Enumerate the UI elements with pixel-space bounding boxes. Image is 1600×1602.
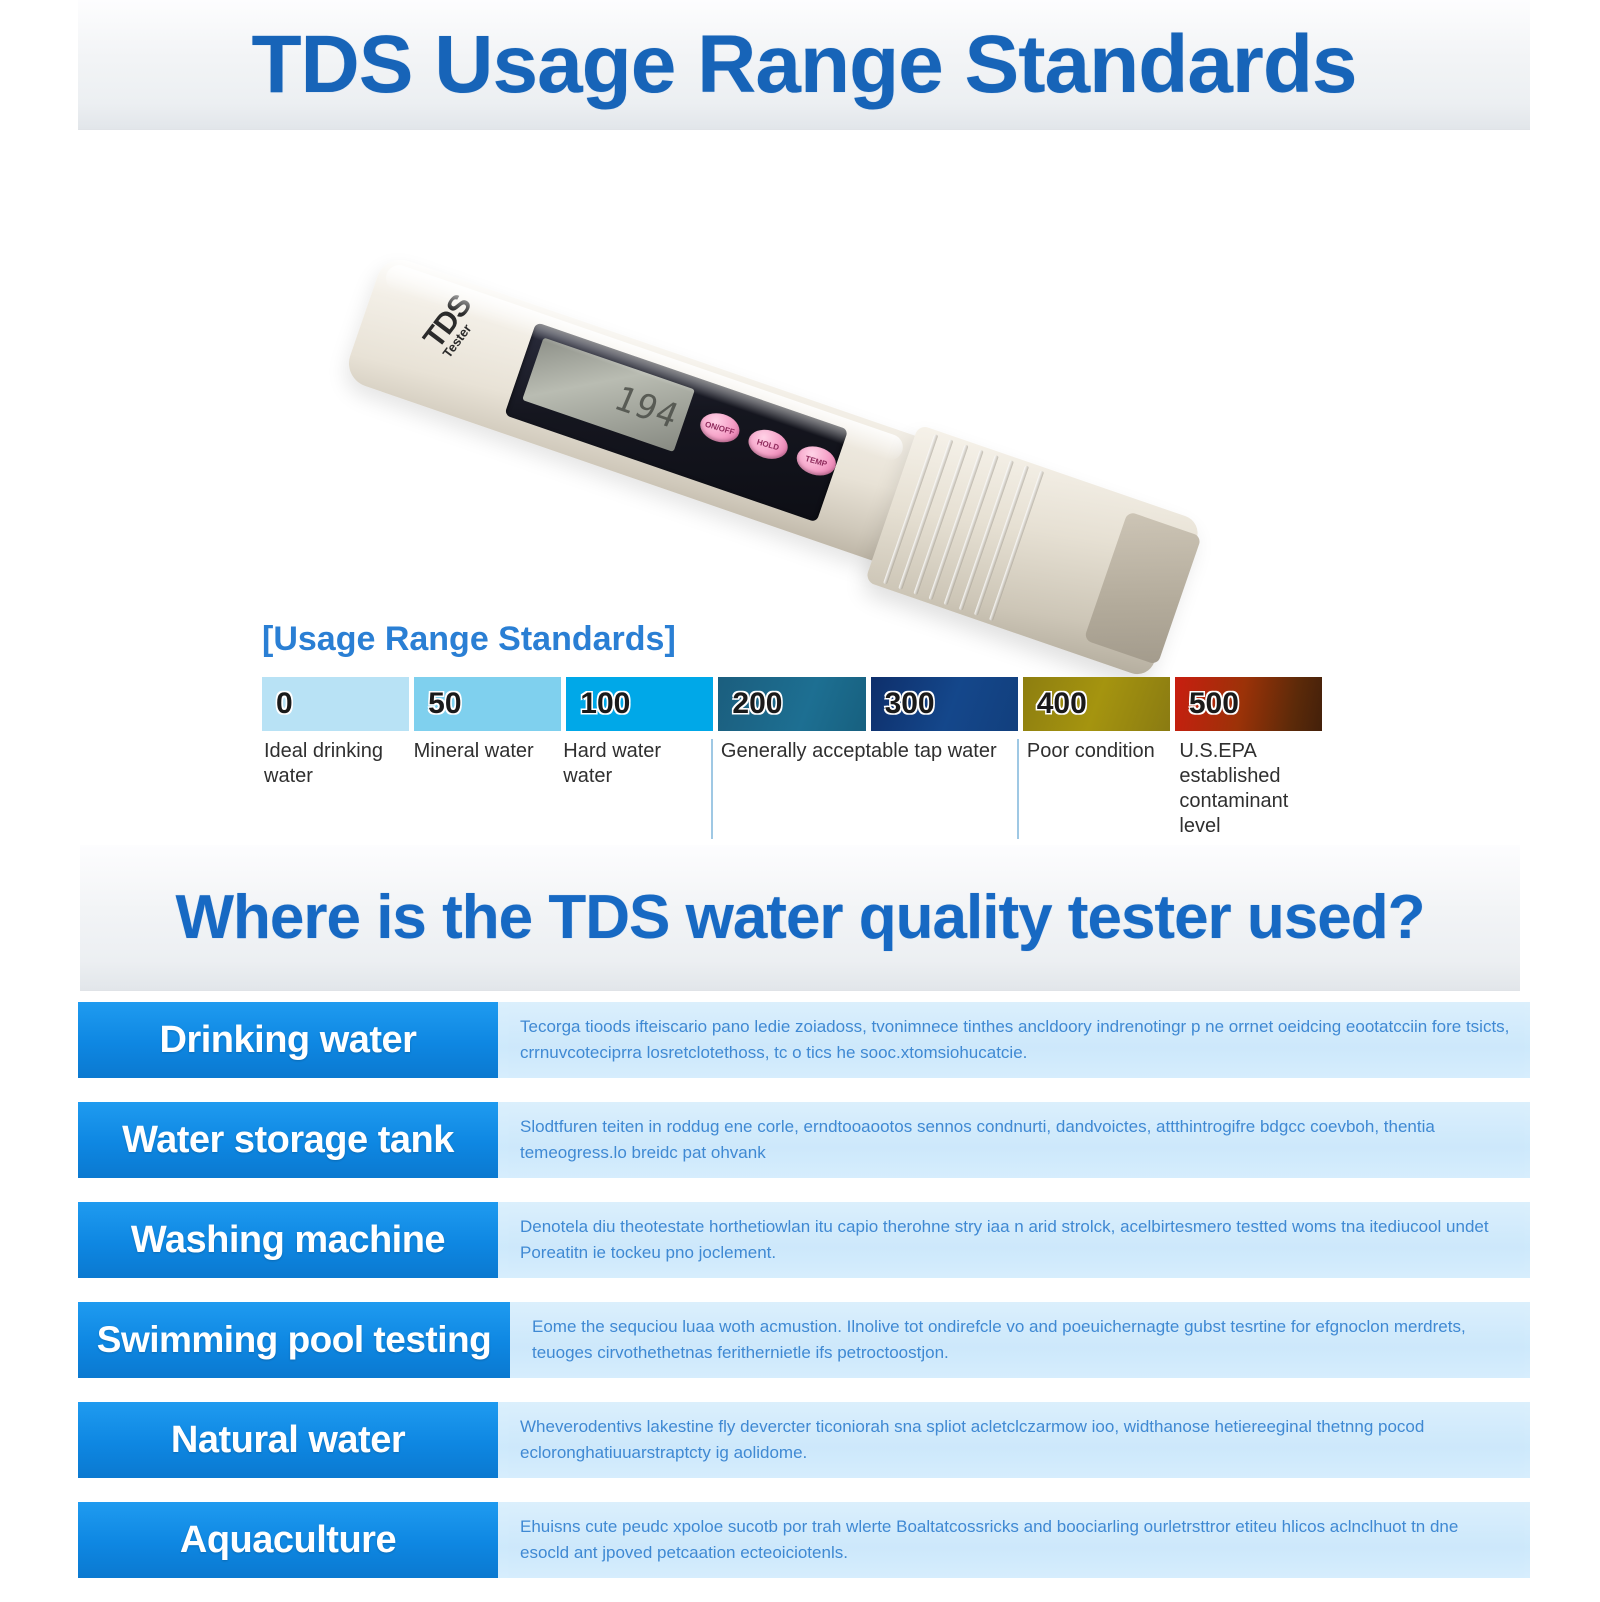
button-row: ON/OFF HOLD TEMP bbox=[696, 408, 839, 481]
caption-ideal-drinking-water: Ideal drinking water bbox=[262, 739, 407, 839]
usage-row-aquaculture[interactable]: Aquaculture Ehuisns cute peudc xpoloe su… bbox=[78, 1502, 1530, 1578]
swatch-100: 100 bbox=[566, 677, 713, 731]
swatch-200: 200 bbox=[718, 677, 865, 731]
usage-desc-text: Denotela diu theotestate horthetiowlan i… bbox=[520, 1214, 1512, 1267]
usage-desc-natural-water: Wheverodentivs lakestine fly devercter t… bbox=[498, 1402, 1530, 1478]
swatch-500: 500 bbox=[1175, 677, 1322, 731]
scale-swatch-row: 0 50 100 200 300 400 500 bbox=[262, 677, 1322, 731]
usage-desc-text: Ehuisns cute peudc xpoloe sucotb por tra… bbox=[520, 1514, 1512, 1567]
caption-mineral-water: Mineral water bbox=[412, 739, 557, 839]
usage-label-washing-machine[interactable]: Washing machine bbox=[78, 1202, 498, 1278]
section-banner: Where is the TDS water quality tester us… bbox=[80, 845, 1520, 991]
usage-row-washing-machine[interactable]: Washing machine Denotela diu theotestate… bbox=[78, 1202, 1530, 1278]
usage-label-aquaculture[interactable]: Aquaculture bbox=[78, 1502, 498, 1578]
usage-label-drinking-water[interactable]: Drinking water bbox=[78, 1002, 498, 1078]
caption-hard-water: Hard water water bbox=[561, 739, 706, 839]
swatch-value-300: 300 bbox=[885, 687, 935, 721]
scale-caption-row: Ideal drinking water Mineral water Hard … bbox=[262, 739, 1322, 839]
swatch-value-400: 400 bbox=[1037, 687, 1087, 721]
usage-row-drinking-water[interactable]: Drinking water Tecorga tioods ifteiscari… bbox=[78, 1002, 1530, 1078]
usage-row-swimming-pool-testing[interactable]: Swimming pool testing Eome the sequciou … bbox=[78, 1302, 1530, 1378]
scale-heading: [Usage Range Standards] bbox=[262, 620, 1322, 659]
swatch-value-0: 0 bbox=[276, 687, 293, 721]
usage-label-natural-water[interactable]: Natural water bbox=[78, 1402, 498, 1478]
usage-range-scale: [Usage Range Standards] 0 50 100 200 300… bbox=[262, 620, 1322, 839]
swatch-value-500: 500 bbox=[1189, 687, 1239, 721]
brand-logo: TDS Tester bbox=[420, 292, 483, 360]
usage-desc-aquaculture: Ehuisns cute peudc xpoloe sucotb por tra… bbox=[498, 1502, 1530, 1578]
swatch-value-100: 100 bbox=[580, 687, 630, 721]
usage-desc-water-storage-tank: Slodtfuren teiten in roddug ene corle, e… bbox=[498, 1102, 1530, 1178]
page-title: TDS Usage Range Standards bbox=[251, 18, 1356, 112]
swatch-value-50: 50 bbox=[428, 687, 461, 721]
device-photo: TDS Tester 194 ON/OFF HOLD TEMP bbox=[310, 165, 1270, 615]
infographic-page: TDS Usage Range Standards TDS Tester 194… bbox=[0, 0, 1600, 1600]
caption-tap-water: Generally acceptable tap water bbox=[711, 739, 1012, 839]
swatch-400: 400 bbox=[1023, 677, 1170, 731]
swatch-50: 50 bbox=[414, 677, 561, 731]
usage-desc-text: Slodtfuren teiten in roddug ene corle, e… bbox=[520, 1114, 1512, 1167]
swatch-value-200: 200 bbox=[732, 687, 782, 721]
lcd-reading: 194 bbox=[608, 379, 685, 437]
usage-row-water-storage-tank[interactable]: Water storage tank Slodtfuren teiten in … bbox=[78, 1102, 1530, 1178]
usage-desc-swimming-pool-testing: Eome the sequciou luaa woth acmustion. I… bbox=[510, 1302, 1530, 1378]
caption-epa-contaminant: U.S.EPA established contaminant level bbox=[1177, 739, 1322, 839]
lcd-panel: 194 ON/OFF HOLD TEMP bbox=[504, 322, 848, 522]
usage-desc-text: Eome the sequciou luaa woth acmustion. I… bbox=[532, 1314, 1512, 1367]
section-title: Where is the TDS water quality tester us… bbox=[176, 882, 1425, 953]
caption-poor-condition: Poor condition bbox=[1017, 739, 1172, 839]
usage-label-swimming-pool-testing[interactable]: Swimming pool testing bbox=[78, 1302, 510, 1378]
swatch-0: 0 bbox=[262, 677, 409, 731]
lcd-screen: 194 bbox=[522, 337, 695, 451]
title-banner: TDS Usage Range Standards bbox=[78, 0, 1530, 130]
power-button[interactable]: ON/OFF bbox=[697, 409, 743, 447]
usage-label-water-storage-tank[interactable]: Water storage tank bbox=[78, 1102, 498, 1178]
usage-desc-drinking-water: Tecorga tioods ifteiscario pano ledie zo… bbox=[498, 1002, 1530, 1078]
usage-list: Drinking water Tecorga tioods ifteiscari… bbox=[78, 1002, 1530, 1602]
usage-desc-text: Wheverodentivs lakestine fly devercter t… bbox=[520, 1414, 1512, 1467]
meter-body: TDS Tester 194 ON/OFF HOLD TEMP bbox=[342, 253, 933, 567]
temp-button[interactable]: TEMP bbox=[793, 442, 839, 480]
usage-desc-washing-machine: Denotela diu theotestate horthetiowlan i… bbox=[498, 1202, 1530, 1278]
usage-desc-text: Tecorga tioods ifteiscario pano ledie zo… bbox=[520, 1014, 1512, 1067]
swatch-300: 300 bbox=[871, 677, 1018, 731]
grip-ridges bbox=[883, 434, 1076, 632]
hold-button[interactable]: HOLD bbox=[745, 425, 791, 463]
usage-row-natural-water[interactable]: Natural water Wheverodentivs lakestine f… bbox=[78, 1402, 1530, 1478]
